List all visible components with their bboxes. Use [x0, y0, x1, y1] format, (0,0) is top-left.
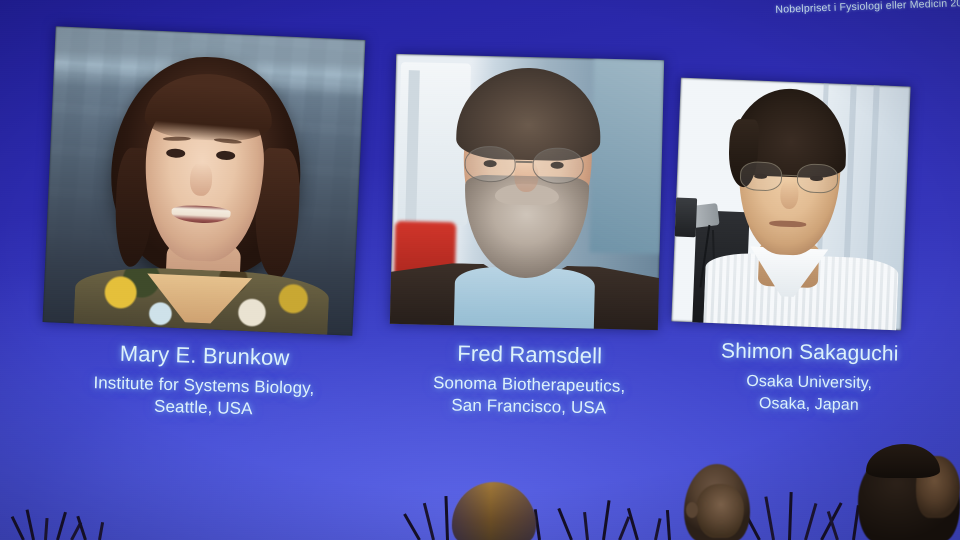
laureate-name: Shimon Sakaguchi: [690, 338, 930, 368]
portrait-glasses-left-lens: [464, 146, 516, 182]
portrait-glasses-right-lens: [533, 148, 585, 184]
laureate-name: Mary E. Brunkow: [39, 339, 370, 374]
photo-background-blur-right: [590, 59, 664, 255]
portrait-glasses-left-lens: [740, 161, 783, 192]
photo-background-equipment-box: [675, 197, 697, 237]
laureate-affiliation-line-2: Osaka, Japan: [689, 392, 929, 418]
laureate-photo-ramsdell: [390, 54, 664, 330]
laureate-photo-sakaguchi: [671, 78, 910, 331]
portrait-eye-left: [166, 148, 186, 158]
laureate-name: Fred Ramsdell: [400, 340, 660, 371]
portrait-nose: [779, 179, 799, 209]
laureate-caption-ramsdell: Fred Ramsdell Sonoma Biotherapeutics, Sa…: [399, 340, 660, 421]
laureate-photo-brunkow: [43, 26, 366, 335]
portrait-nose: [189, 163, 212, 196]
laureate-caption-brunkow: Mary E. Brunkow Institute for Systems Bi…: [38, 339, 370, 424]
portrait-eye-right: [216, 150, 236, 160]
projection-screen: …logy or Medicine 2025 Nobelpriset i Fys…: [0, 0, 960, 540]
laureate-caption-sakaguchi: Shimon Sakaguchi Osaka University, Osaka…: [689, 338, 930, 418]
slide-header: …logy or Medicine 2025 Nobelpriset i Fys…: [742, 0, 960, 18]
portrait-glasses-right-lens: [796, 163, 839, 194]
